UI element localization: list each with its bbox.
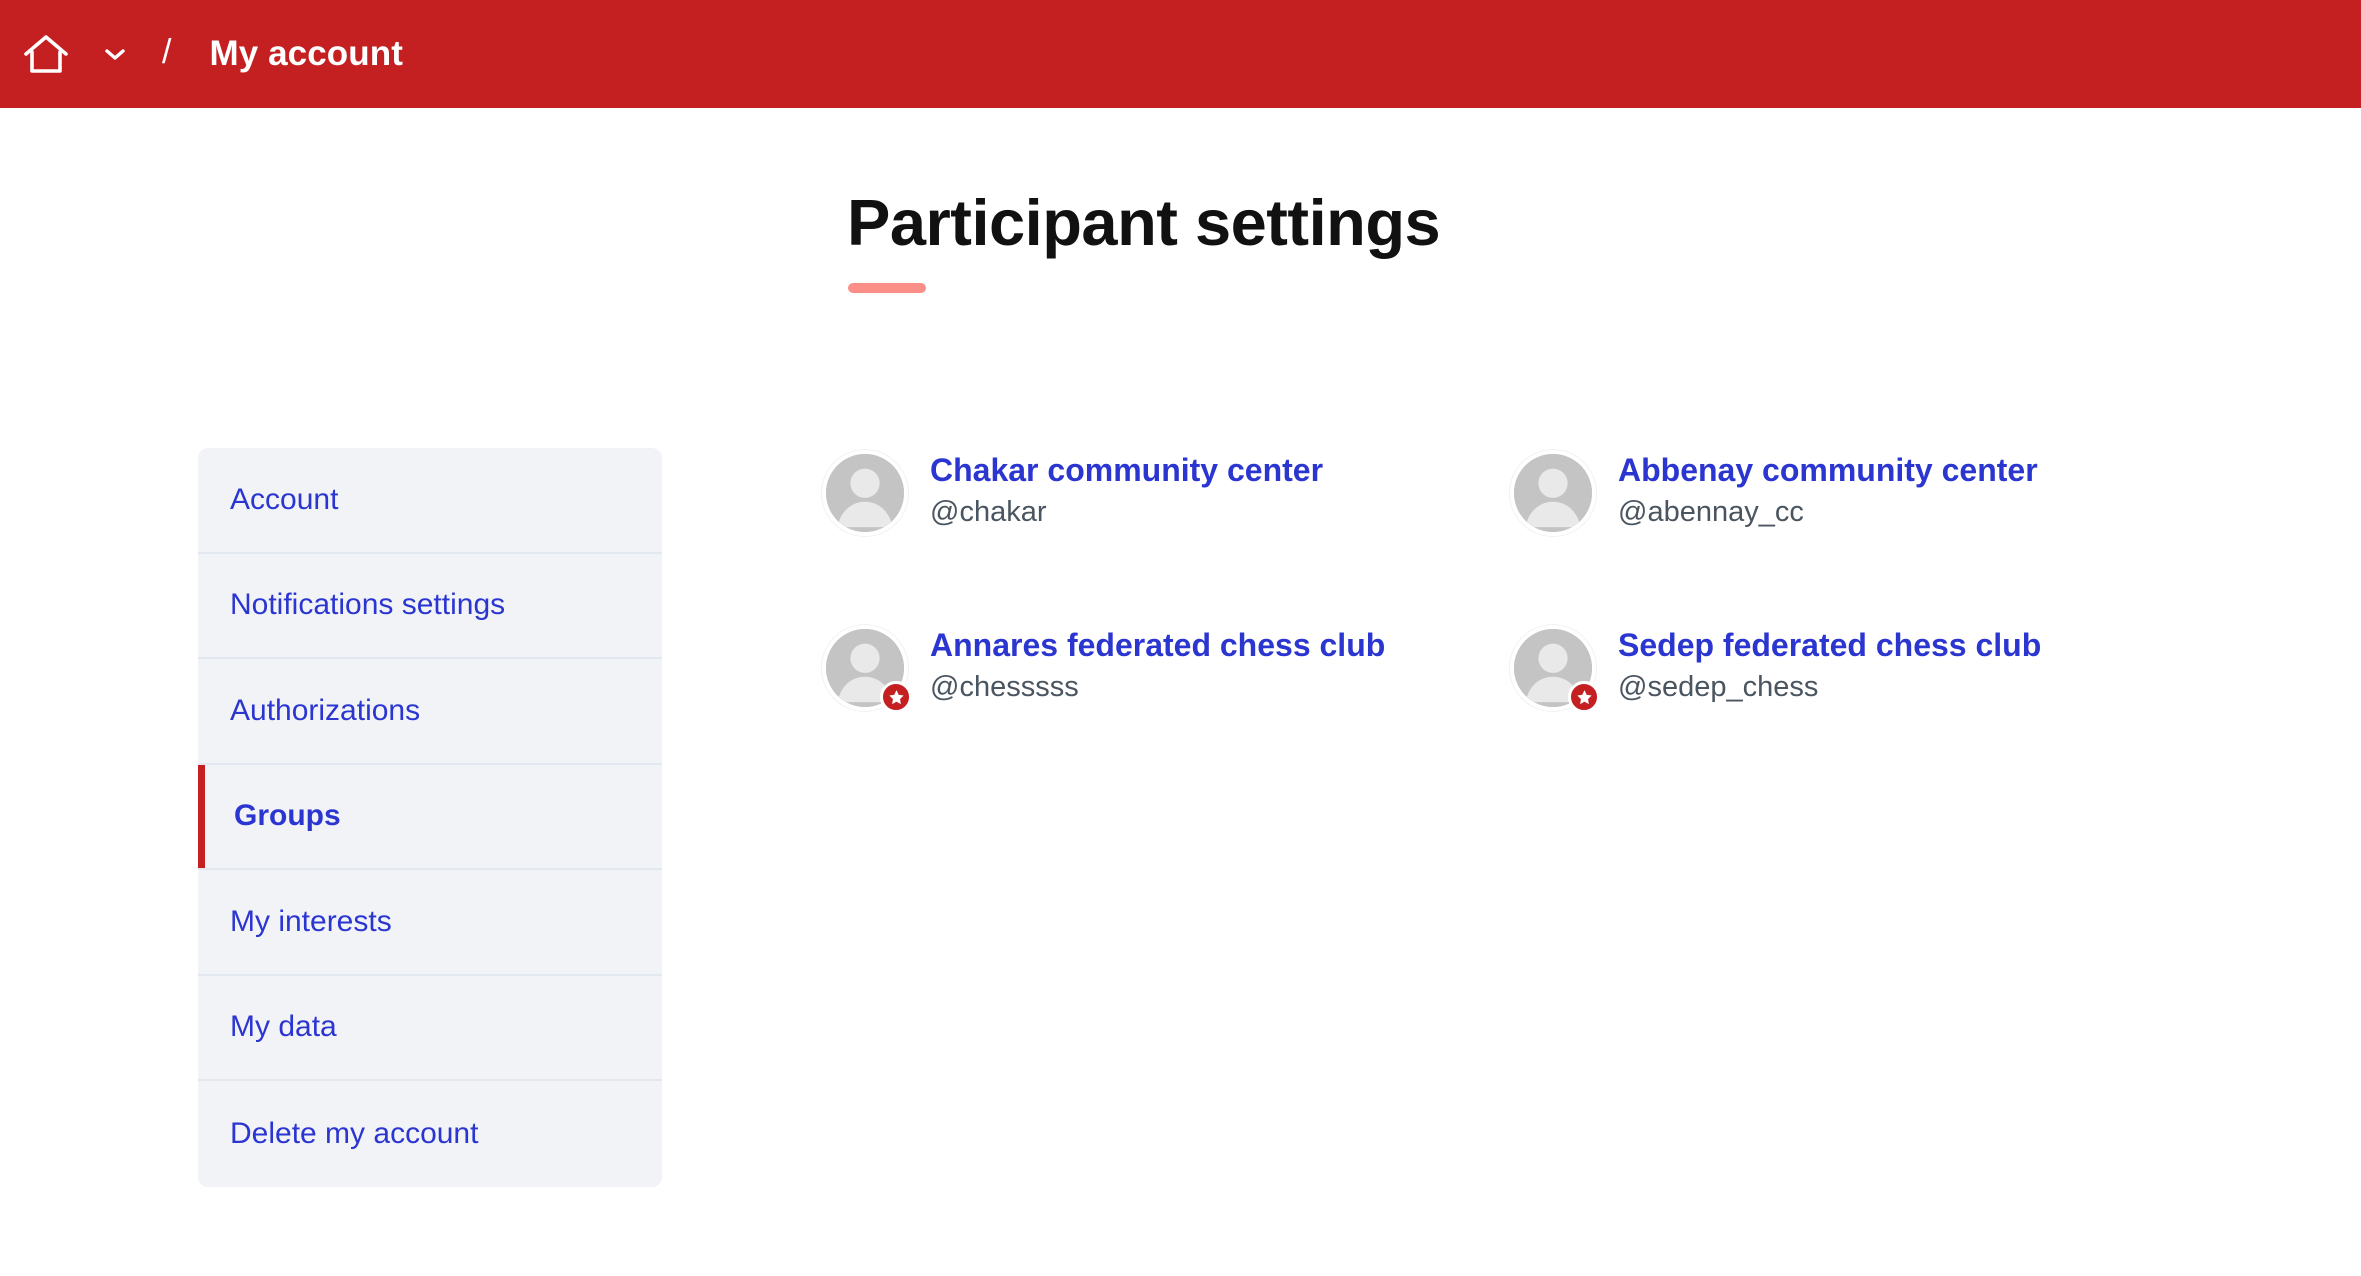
account-settings-sidebar: Account Notifications settings Authoriza… bbox=[198, 448, 662, 1187]
group-name[interactable]: Chakar community center bbox=[930, 452, 1323, 490]
breadcrumb-bar: / My account bbox=[0, 0, 2361, 108]
group-name[interactable]: Abbenay community center bbox=[1618, 452, 2038, 490]
sidebar-item-delete-my-account[interactable]: Delete my account bbox=[198, 1081, 662, 1187]
title-accent-bar bbox=[848, 283, 926, 293]
group-card[interactable]: Annares federated chess club @chesssss bbox=[822, 615, 1510, 790]
groups-list: Chakar community center @chakar Abbenay … bbox=[822, 440, 2222, 790]
breadcrumb-title: My account bbox=[209, 34, 403, 74]
group-handle: @chesssss bbox=[930, 669, 1385, 705]
page-title: Participant settings bbox=[847, 185, 1440, 260]
sidebar-item-groups[interactable]: Groups bbox=[198, 765, 662, 871]
sidebar-item-label: My data bbox=[230, 1010, 337, 1044]
group-card[interactable]: Abbenay community center @abennay_cc bbox=[1510, 440, 2198, 615]
breadcrumb-separator: / bbox=[162, 35, 171, 69]
default-avatar-icon bbox=[1510, 450, 1596, 536]
group-handle: @chakar bbox=[930, 494, 1323, 530]
sidebar-item-account[interactable]: Account bbox=[198, 448, 662, 554]
group-name[interactable]: Annares federated chess club bbox=[930, 627, 1385, 665]
avatar bbox=[822, 450, 908, 536]
sidebar-item-notifications-settings[interactable]: Notifications settings bbox=[198, 554, 662, 660]
verified-star-badge-icon bbox=[1568, 681, 1600, 713]
default-avatar-icon bbox=[822, 450, 908, 536]
sidebar-item-label: Notifications settings bbox=[230, 588, 505, 622]
sidebar-item-label: Account bbox=[230, 483, 338, 517]
group-handle: @sedep_chess bbox=[1618, 669, 2041, 705]
sidebar-item-my-interests[interactable]: My interests bbox=[198, 870, 662, 976]
group-name[interactable]: Sedep federated chess club bbox=[1618, 627, 2041, 665]
group-handle: @abennay_cc bbox=[1618, 494, 2038, 530]
sidebar-item-label: Groups bbox=[230, 799, 341, 833]
group-card[interactable]: Chakar community center @chakar bbox=[822, 440, 1510, 615]
chevron-down-icon[interactable] bbox=[102, 41, 128, 67]
sidebar-item-authorizations[interactable]: Authorizations bbox=[198, 659, 662, 765]
verified-star-badge-icon bbox=[880, 681, 912, 713]
sidebar-item-my-data[interactable]: My data bbox=[198, 976, 662, 1082]
sidebar-item-label: Authorizations bbox=[230, 694, 420, 728]
sidebar-item-label: Delete my account bbox=[230, 1117, 478, 1151]
sidebar-item-label: My interests bbox=[230, 905, 392, 939]
avatar bbox=[1510, 625, 1596, 711]
home-icon[interactable] bbox=[22, 30, 70, 78]
avatar bbox=[1510, 450, 1596, 536]
avatar bbox=[822, 625, 908, 711]
group-card[interactable]: Sedep federated chess club @sedep_chess bbox=[1510, 615, 2198, 790]
